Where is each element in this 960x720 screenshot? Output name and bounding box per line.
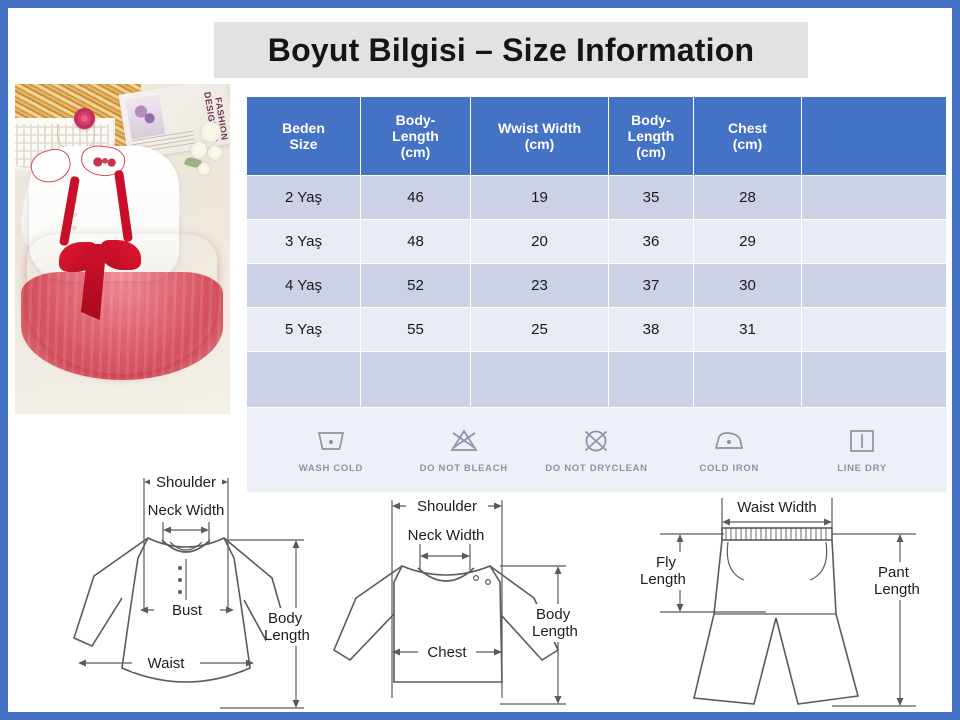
shirt-label-chest: Chest [427, 644, 467, 661]
care-label: COLD IRON [699, 463, 759, 474]
dress-label-neck-width: Neck Width [148, 502, 225, 519]
column-header-body-length-1: Body- Length (cm) [361, 97, 471, 176]
shirt-label-shoulder: Shoulder [417, 498, 477, 515]
white-flower [198, 163, 210, 175]
cell-waist-width [471, 352, 609, 408]
cell-chest [694, 352, 802, 408]
column-header-waist-width: Wwist Width (cm) [471, 97, 609, 176]
dress-label-body: Body [268, 610, 303, 627]
magazine-cover-image [125, 95, 165, 140]
shirt-label-body: Body [536, 606, 571, 623]
cell-body-length-1: 52 [361, 264, 471, 308]
header-line: Wwist Width [471, 120, 608, 136]
cell-body-length-2: 35 [609, 176, 694, 220]
cell-chest: 28 [694, 176, 802, 220]
table-row-blank [247, 352, 947, 408]
white-flower [208, 146, 222, 160]
cell-chest: 31 [694, 308, 802, 352]
care-item-do-not-bleach: DO NOT BLEACH [397, 426, 530, 474]
care-label: LINE DRY [837, 463, 887, 474]
table-header-row: Beden Size Body- Length (cm) Wwist Width… [247, 97, 947, 176]
cell-body-length-1: 46 [361, 176, 471, 220]
page-title: Boyut Bilgisi – Size Information [268, 32, 754, 69]
header-line: Length [361, 128, 470, 144]
dress-label-length: Length [264, 627, 310, 644]
cell-size: 5 Yaş [247, 308, 361, 352]
cell-body-length-1: 55 [361, 308, 471, 352]
dress-label-bust: Bust [172, 602, 203, 619]
column-header-chest: Chest (cm) [694, 97, 802, 176]
bow-knot [89, 244, 107, 266]
do-not-dryclean-icon [579, 426, 613, 456]
product-photo: FASHION DESIGNER [15, 84, 230, 414]
shirt-label-length: Length [532, 623, 578, 640]
header-line: Chest [694, 120, 801, 136]
header-line: Body- [361, 112, 470, 128]
cell-waist-width: 19 [471, 176, 609, 220]
care-cell: WASH COLD DO NOT BLEACH [247, 408, 947, 493]
care-instructions-strip: WASH COLD DO NOT BLEACH [247, 408, 947, 492]
cell-empty [802, 176, 947, 220]
dress-measurement-diagram: Shoulder Shoulder Neck Width Bust Waist [36, 460, 336, 718]
cell-size: 2 Yaş [247, 176, 361, 220]
table-row: 5 Yaş 55 25 38 31 [247, 308, 947, 352]
header-line: (cm) [694, 136, 801, 152]
care-instructions-row: WASH COLD DO NOT BLEACH [247, 408, 947, 493]
wash-cold-icon [314, 426, 348, 456]
white-flower [201, 122, 221, 142]
care-label: DO NOT BLEACH [420, 463, 508, 474]
cold-iron-icon [712, 426, 746, 456]
red-tulle-overlay [21, 272, 223, 380]
cell-size [247, 352, 361, 408]
care-label: DO NOT DRYCLEAN [545, 463, 648, 474]
table-row: 3 Yaş 48 20 36 29 [247, 220, 947, 264]
dress-label-waist: Waist [148, 655, 186, 672]
cell-empty [802, 352, 947, 408]
pants-label-pant: Pant [878, 564, 910, 581]
cell-size: 3 Yaş [247, 220, 361, 264]
cell-body-length-2: 37 [609, 264, 694, 308]
dress-label-shoulder-text: Shoulder [156, 474, 216, 491]
table-row: 2 Yaş 46 19 35 28 [247, 176, 947, 220]
table-row: 4 Yaş 52 23 37 30 [247, 264, 947, 308]
cell-body-length-2 [609, 352, 694, 408]
pants-measurement-diagram: Waist Width Fly Length Pant Length [636, 484, 956, 718]
column-header-empty [802, 97, 947, 176]
cell-waist-width: 25 [471, 308, 609, 352]
header-line: Length [609, 128, 693, 144]
pants-label-waist-width: Waist Width [737, 499, 816, 516]
header-line: (cm) [609, 144, 693, 160]
cell-empty [802, 220, 947, 264]
shirt-measurement-diagram: Shoulder Neck Width Chest Body Length [330, 486, 620, 718]
size-information-table: Beden Size Body- Length (cm) Wwist Width… [246, 96, 947, 492]
cell-body-length-2: 36 [609, 220, 694, 264]
header-line: (cm) [361, 144, 470, 160]
pants-label-fly-length: Length [640, 571, 686, 588]
slide-canvas: Boyut Bilgisi – Size Information FASHION… [0, 0, 960, 720]
white-flower [191, 142, 207, 158]
column-header-beden-size: Beden Size [247, 97, 361, 176]
cell-body-length-1: 48 [361, 220, 471, 264]
care-item-cold-iron: COLD IRON [663, 426, 796, 474]
title-band: Boyut Bilgisi – Size Information [214, 22, 808, 78]
shirt-label-neck-width: Neck Width [408, 527, 485, 544]
care-item-line-dry: LINE DRY [796, 426, 929, 474]
cell-waist-width: 23 [471, 264, 609, 308]
column-header-body-length-2: Body- Length (cm) [609, 97, 694, 176]
cell-empty [802, 264, 947, 308]
cell-body-length-2: 38 [609, 308, 694, 352]
pants-label-pant-length: Length [874, 581, 920, 598]
care-item-do-not-dryclean: DO NOT DRYCLEAN [530, 426, 663, 474]
collar-embroidery [93, 156, 117, 168]
header-line: Body- [609, 112, 693, 128]
cell-empty [802, 308, 947, 352]
do-not-bleach-icon [447, 426, 481, 456]
header-line: Beden [247, 120, 360, 136]
header-line: Size [247, 136, 360, 152]
cell-body-length-1 [361, 352, 471, 408]
cell-chest: 30 [694, 264, 802, 308]
cell-chest: 29 [694, 220, 802, 264]
pants-label-fly: Fly [656, 554, 676, 571]
header-line: (cm) [471, 136, 608, 152]
cell-waist-width: 20 [471, 220, 609, 264]
line-dry-icon [845, 426, 879, 456]
cell-size: 4 Yaş [247, 264, 361, 308]
